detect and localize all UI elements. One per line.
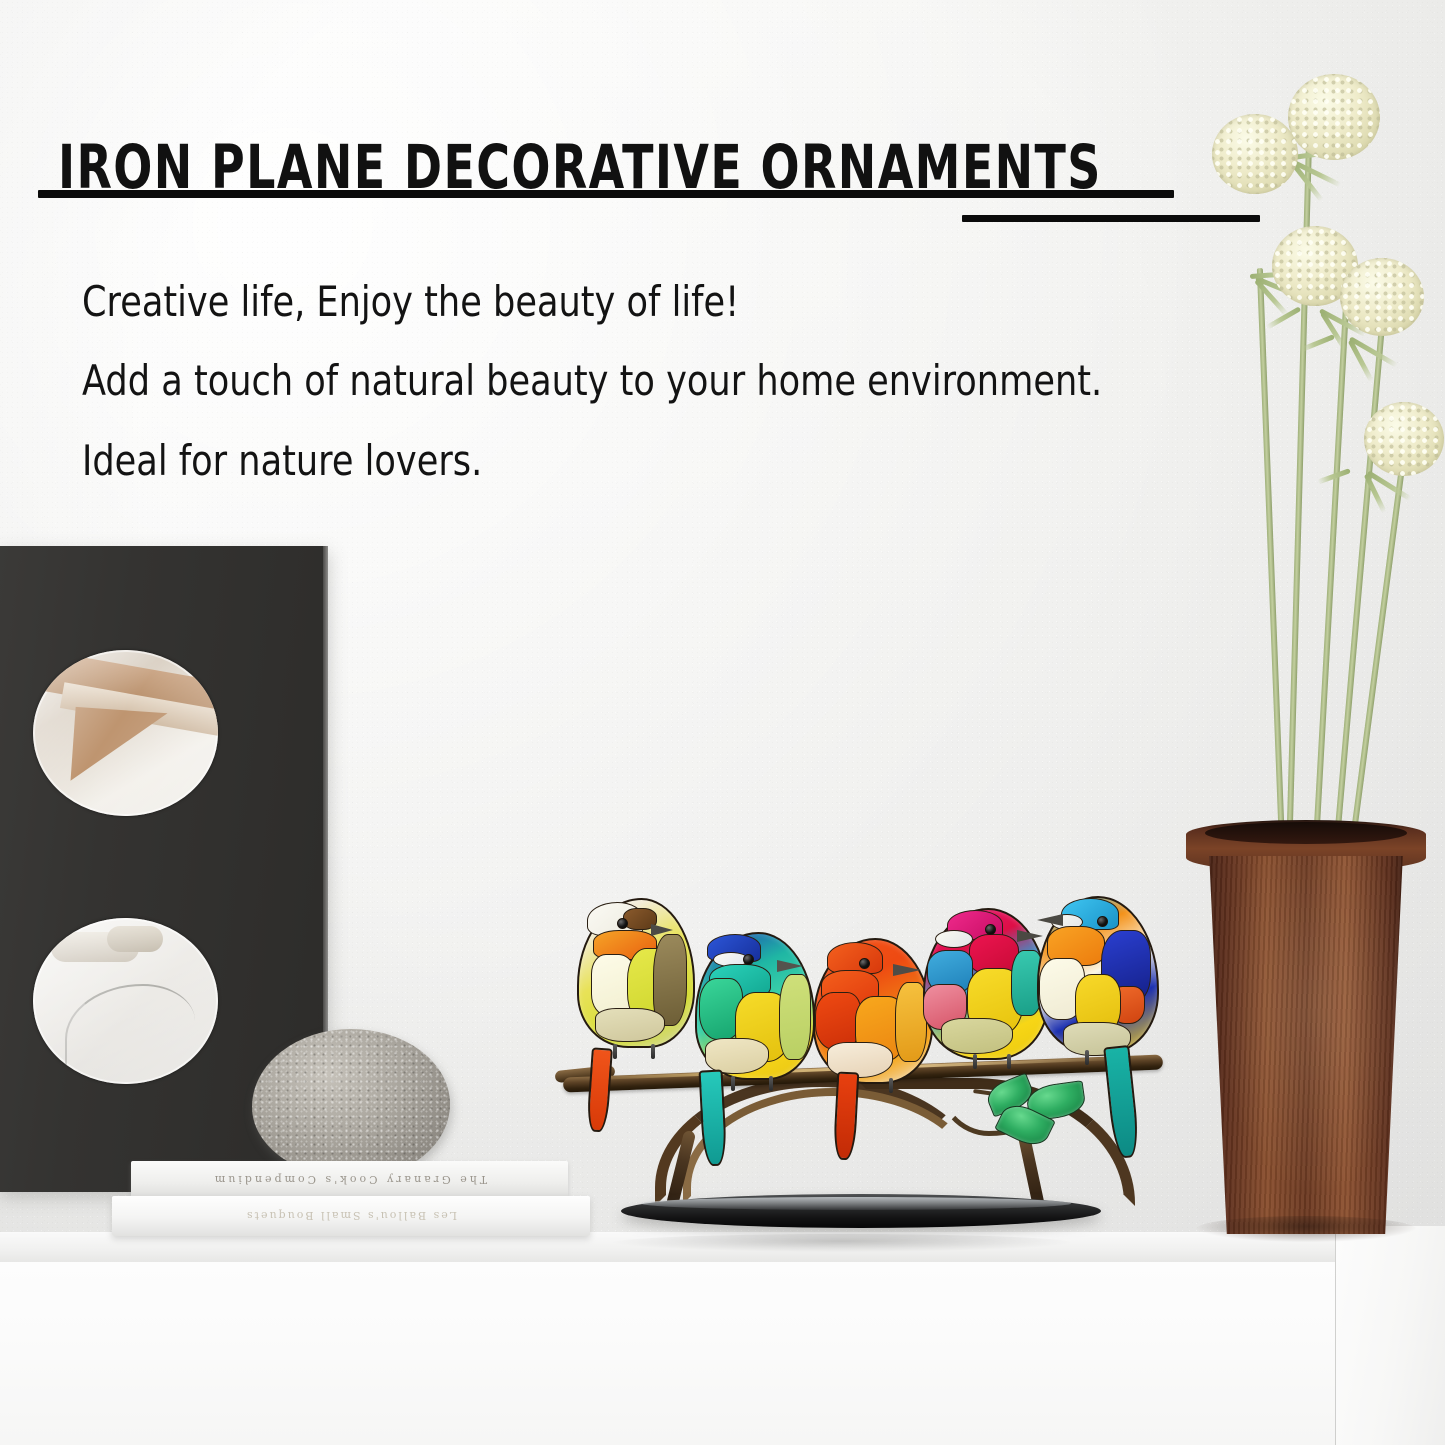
bird-5-eye	[1097, 916, 1108, 927]
bird-4-leg-right	[1007, 1054, 1011, 1069]
bird-3-beak	[893, 964, 921, 976]
bird-1-tail	[586, 1047, 613, 1132]
bird-sculpture	[555, 880, 1185, 1270]
bird-1-leg-right	[651, 1044, 655, 1059]
sculpture-base-gloss	[641, 1197, 1071, 1210]
frame-mirror-top	[33, 650, 218, 816]
flower-bloom-1	[1288, 74, 1380, 160]
title-underline-primary	[38, 190, 1174, 198]
counter-right-corner	[1335, 1226, 1445, 1445]
stone-texture	[252, 1029, 450, 1179]
book-upper: The Granary Cook's Compendium	[131, 1161, 568, 1198]
mirror-gloss-top	[33, 650, 218, 816]
bird-2-flank	[779, 974, 811, 1060]
book-upper-spine-text: The Granary Cook's Compendium	[131, 1161, 568, 1198]
vase-opening	[1205, 822, 1407, 844]
bird-4-leg-left	[973, 1054, 977, 1069]
bird-1-beak	[651, 924, 673, 936]
product-marketing-image: IRON PLANE DECORATIVE ORNAMENTS Creative…	[0, 0, 1445, 1445]
vase-shadow	[1196, 1216, 1416, 1242]
tagline-line-1: Creative life, Enjoy the beauty of life!	[82, 277, 739, 326]
counter-front-face	[0, 1262, 1445, 1445]
tagline-line-2: Add a touch of natural beauty to your ho…	[82, 356, 1102, 405]
flower-bloom-2	[1212, 114, 1298, 194]
vase-wood-grain	[1196, 856, 1416, 1234]
book-lower: Les Ballou's Small Bouquets	[112, 1196, 590, 1236]
bird-5	[1037, 896, 1197, 1126]
tagline-line-3: Ideal for nature lovers.	[82, 436, 482, 485]
book-lower-spine-text: Les Ballou's Small Bouquets	[112, 1196, 590, 1236]
bird-1-eye	[617, 918, 628, 929]
flower-bloom-4	[1340, 258, 1424, 336]
bird-3-leg-right	[889, 1078, 893, 1093]
bird-5-beak	[1037, 914, 1063, 926]
bird-2-leg-left	[731, 1076, 735, 1091]
bird-1-leg-left	[613, 1044, 617, 1059]
bird-4-eyestripe	[935, 930, 973, 948]
bird-3-eye	[859, 958, 870, 969]
bird-2-leg-right	[769, 1076, 773, 1091]
bird-1-underbelly	[595, 1008, 665, 1042]
title-underline-secondary	[962, 215, 1260, 222]
mirror-gloss-bottom	[33, 918, 218, 1084]
bird-4-eye	[985, 924, 996, 935]
bird-2-beak	[777, 960, 803, 972]
bird-5-leg-left	[1085, 1050, 1089, 1065]
bird-2-eye	[743, 954, 754, 965]
bird-4-underbelly	[941, 1018, 1013, 1054]
frame-mirror-bottom	[33, 918, 218, 1084]
bird-2-underbelly	[705, 1038, 769, 1074]
flower-bloom-5	[1364, 402, 1444, 476]
decorative-stone	[252, 1029, 450, 1179]
